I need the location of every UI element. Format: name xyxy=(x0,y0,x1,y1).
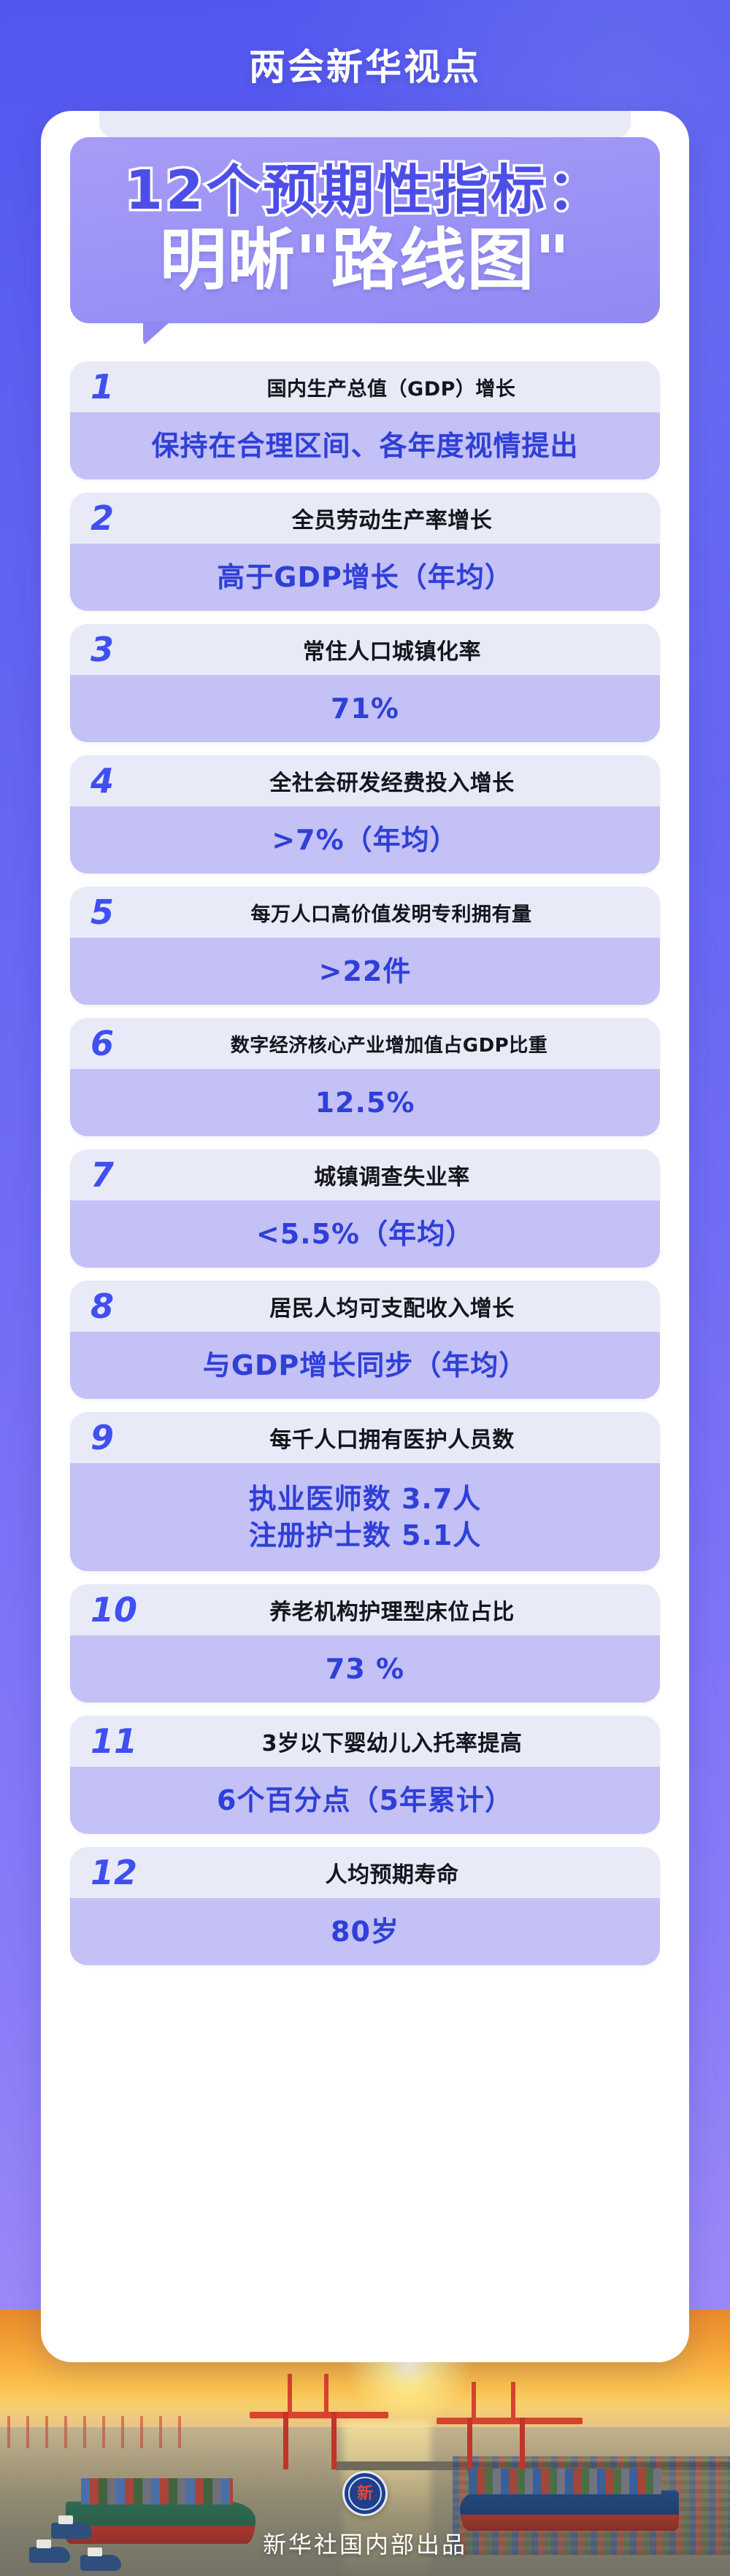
indicator-value: 与GDP增长同步（年均） xyxy=(70,1332,660,1399)
indicator-header: 5 每万人口高价值发明专利拥有量 xyxy=(70,887,660,938)
indicator-label: 养老机构护理型床位占比 xyxy=(70,1594,660,1626)
indicator-header: 11 3岁以下婴幼儿入托率提高 xyxy=(70,1716,660,1767)
indicator-number: 7 xyxy=(91,1158,145,1192)
indicator-value: 高于GDP增长（年均） xyxy=(70,544,660,611)
indicator-item[interactable]: 7 城镇调查失业率 <5.5%（年均） xyxy=(70,1149,660,1268)
indicator-number: 5 xyxy=(91,895,145,929)
indicator-item[interactable]: 4 全社会研发经费投入增长 >7%（年均） xyxy=(70,755,660,874)
crane-leg xyxy=(283,2412,288,2469)
indicator-item[interactable]: 8 居民人均可支配收入增长 与GDP增长同步（年均） xyxy=(70,1281,660,1399)
indicator-number: 4 xyxy=(91,764,145,798)
indicator-value: >7%（年均） xyxy=(70,806,660,874)
indicator-list: 1 国内生产总值（GDP）增长 保持在合理区间、各年度视情提出 2 全员劳动生产… xyxy=(70,361,660,1978)
indicator-label: 每千人口拥有医护人员数 xyxy=(70,1422,660,1454)
crane-beam xyxy=(250,2412,388,2418)
indicator-item[interactable]: 1 国内生产总值（GDP）增长 保持在合理区间、各年度视情提出 xyxy=(70,361,660,479)
indicator-number: 2 xyxy=(91,501,145,535)
indicator-header: 2 全员劳动生产率增长 xyxy=(70,493,660,544)
indicator-value-line: 12.5% xyxy=(315,1084,415,1121)
crane-leg xyxy=(467,2418,472,2472)
indicator-label: 常住人口城镇化率 xyxy=(70,633,660,666)
indicator-item[interactable]: 2 全员劳动生产率增长 高于GDP增长（年均） xyxy=(70,493,660,611)
indicator-item[interactable]: 10 养老机构护理型床位占比 73 % xyxy=(70,1584,660,1702)
indicator-label: 每万人口高价值发明专利拥有量 xyxy=(70,898,660,927)
headline-block: 12个预期性指标： 明晰"路线图" xyxy=(70,137,660,323)
indicator-header: 10 养老机构护理型床位占比 xyxy=(70,1584,660,1635)
crane-beam xyxy=(437,2418,583,2424)
crane-leg xyxy=(331,2412,337,2469)
headline-line-2: 明晰"路线图" xyxy=(160,222,571,299)
crane-mast xyxy=(324,2374,328,2414)
crane-mast xyxy=(511,2382,515,2420)
gantry-crane-left xyxy=(270,2374,372,2469)
indicator-value: 12.5% xyxy=(70,1069,660,1136)
header: 两会新华视点 xyxy=(0,0,730,128)
page-title: 两会新华视点 xyxy=(249,38,481,90)
headline-bubble-tail xyxy=(143,321,171,346)
indicator-value-line: >22件 xyxy=(319,953,412,990)
indicator-number: 3 xyxy=(91,633,145,666)
indicator-label: 全社会研发经费投入增长 xyxy=(70,765,660,797)
indicator-number: 8 xyxy=(91,1289,145,1323)
footer: 新 新华社国内部出品 xyxy=(0,2471,730,2560)
crane-leg xyxy=(520,2418,525,2472)
indicator-value: >22件 xyxy=(70,938,660,1005)
indicator-label: 3岁以下婴幼儿入托率提高 xyxy=(70,1725,660,1757)
indicator-value-line: <5.5%（年均） xyxy=(256,1216,474,1252)
indicator-value-line: >7%（年均） xyxy=(272,822,458,858)
indicator-label: 全员劳动生产率增长 xyxy=(70,502,660,534)
indicator-value-line: 与GDP增长同步（年均） xyxy=(203,1347,528,1384)
gantry-crane-right xyxy=(453,2382,562,2472)
indicator-header: 4 全社会研发经费投入增长 xyxy=(70,755,660,806)
indicator-value-line: 执业医师数 3.7人 xyxy=(249,1481,482,1517)
xinhua-logo-mark: 新 xyxy=(357,2486,373,2502)
indicator-number: 1 xyxy=(91,370,145,404)
indicator-value: <5.5%（年均） xyxy=(70,1200,660,1268)
indicator-value: 71% xyxy=(70,675,660,742)
indicator-value-line: 73 % xyxy=(326,1651,404,1687)
card-notch xyxy=(99,111,631,139)
indicator-value-line: 高于GDP增长（年均） xyxy=(217,559,513,595)
indicator-item[interactable]: 9 每千人口拥有医护人员数 执业医师数 3.7人注册护士数 5.1人 xyxy=(70,1412,660,1571)
indicator-value: 73 % xyxy=(70,1635,660,1702)
indicator-header: 12 人均预期寿命 xyxy=(70,1847,660,1898)
indicator-value-line: 注册护士数 5.1人 xyxy=(249,1517,482,1554)
indicator-item[interactable]: 12 人均预期寿命 80岁 xyxy=(70,1847,660,1965)
indicator-value-line: 71% xyxy=(331,690,399,727)
xinhua-logo-ring: 新 xyxy=(348,2477,382,2510)
indicator-header: 1 国内生产总值（GDP）增长 xyxy=(70,361,660,412)
footer-credit: 新华社国内部出品 xyxy=(263,2526,467,2560)
indicator-label: 人均预期寿命 xyxy=(70,1856,660,1889)
indicator-header: 9 每千人口拥有医护人员数 xyxy=(70,1412,660,1463)
indicator-value-line: 保持在合理区间、各年度视情提出 xyxy=(151,428,578,464)
indicator-value: 80岁 xyxy=(70,1898,660,1965)
indicator-number: 9 xyxy=(91,1421,145,1454)
indicator-header: 8 居民人均可支配收入增长 xyxy=(70,1281,660,1332)
indicator-value-line: 6个百分点（5年累计） xyxy=(217,1782,513,1819)
indicator-value-line: 80岁 xyxy=(331,1913,399,1950)
indicator-header: 6 数字经济核心产业增加值占GDP比重 xyxy=(70,1018,660,1069)
crane-mast xyxy=(288,2374,292,2414)
indicator-number: 11 xyxy=(91,1724,145,1758)
indicator-item[interactable]: 5 每万人口高价值发明专利拥有量 >22件 xyxy=(70,887,660,1005)
indicator-value: 执业医师数 3.7人注册护士数 5.1人 xyxy=(70,1463,660,1571)
indicator-item[interactable]: 3 常住人口城镇化率 71% xyxy=(70,624,660,742)
distant-cranes xyxy=(7,2416,197,2448)
indicator-number: 10 xyxy=(91,1593,145,1627)
indicator-label: 数字经济核心产业增加值占GDP比重 xyxy=(70,1030,660,1057)
indicator-header: 3 常住人口城镇化率 xyxy=(70,624,660,675)
indicator-label: 城镇调查失业率 xyxy=(70,1159,660,1191)
crane-mast xyxy=(472,2382,476,2420)
indicator-value: 保持在合理区间、各年度视情提出 xyxy=(70,412,660,479)
indicator-number: 6 xyxy=(91,1027,145,1060)
indicator-header: 7 城镇调查失业率 xyxy=(70,1149,660,1200)
xinhua-logo-icon: 新 xyxy=(342,2471,388,2516)
headline-line-1: 12个预期性指标： xyxy=(126,161,605,220)
indicator-number: 12 xyxy=(91,1856,145,1889)
indicator-label: 国内生产总值（GDP）增长 xyxy=(70,373,660,401)
indicator-item[interactable]: 6 数字经济核心产业增加值占GDP比重 12.5% xyxy=(70,1018,660,1136)
indicator-item[interactable]: 11 3岁以下婴幼儿入托率提高 6个百分点（5年累计） xyxy=(70,1716,660,1834)
indicator-label: 居民人均可支配收入增长 xyxy=(70,1290,660,1322)
indicator-value: 6个百分点（5年累计） xyxy=(70,1767,660,1834)
